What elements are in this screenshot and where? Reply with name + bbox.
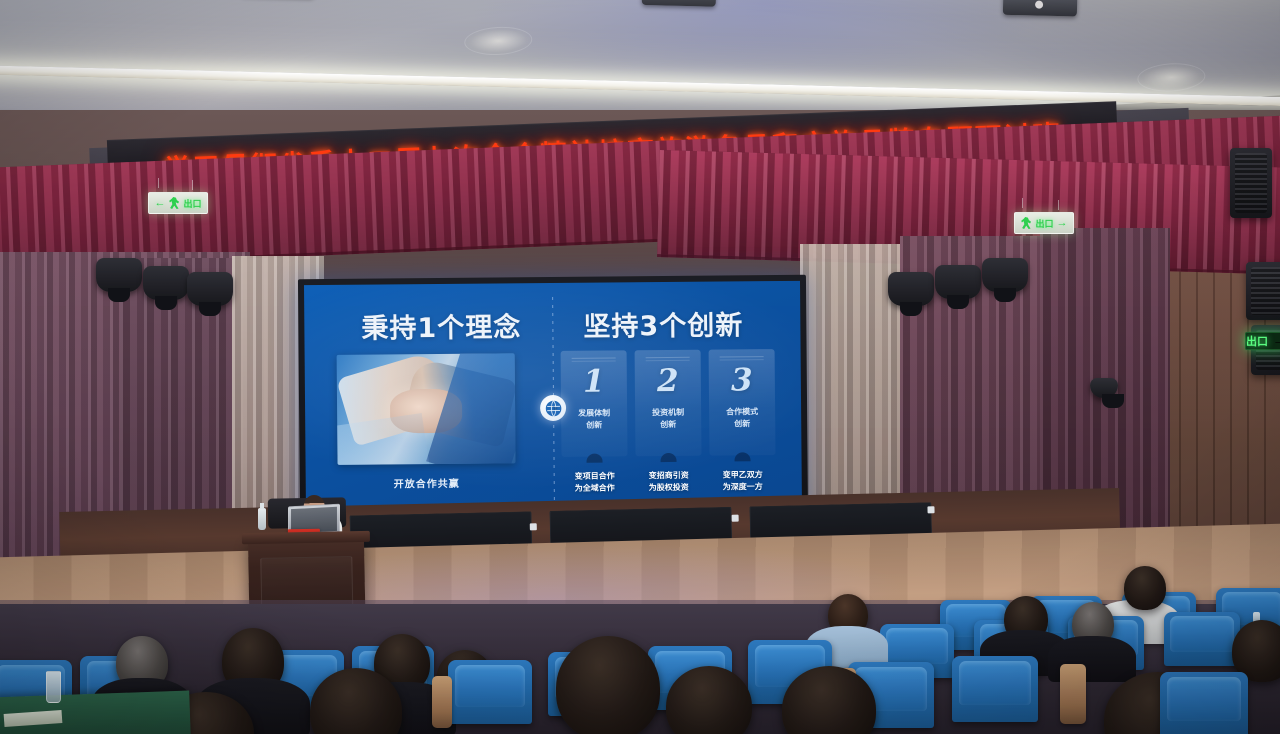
card-caption: 变甲乙双方 为深度一方: [710, 469, 776, 494]
card-caption-line2: 为股权投资: [649, 483, 689, 492]
water-glass: [46, 671, 61, 703]
card-knob: [660, 453, 676, 462]
handshake-photo: [337, 353, 516, 465]
card-label-line2: 创新: [586, 420, 602, 429]
attendee-head-foreground: [556, 636, 660, 734]
card-caption: 变项目合作 为全域合作: [562, 470, 628, 495]
exit-arrow-right-icon: →: [1057, 217, 1068, 229]
slide-card: 3 合作模式 创新: [709, 349, 776, 456]
auditorium-photo: 学习贯彻省委十二届七次全会精神培育旅游名县和文旅品牌专题研讨班 ← 出口 出口 …: [0, 0, 1280, 734]
slide-photo-caption: 开放合作共赢: [338, 474, 516, 491]
exit-sign-wire: [1058, 200, 1059, 210]
pa-speaker: [1230, 148, 1272, 218]
slide-heading-left: 秉持1个理念: [361, 305, 521, 345]
water-bottle: [258, 508, 266, 530]
slide-card: 1 发展体制 创新: [561, 350, 628, 457]
auditorium-seat[interactable]: [448, 660, 532, 724]
slide-card-captions: 变项目合作 为全域合作 变招商引资 为股权投资 变甲乙双方 为深度一方: [562, 469, 776, 495]
running-man-icon: [1020, 217, 1032, 229]
card-knob: [586, 454, 602, 463]
presentation-slide: 秉持1个理念 坚持3个创新 开放合作共赢: [304, 281, 802, 516]
stage-spotlight: [143, 266, 189, 300]
card-caption-line1: 变甲乙双方: [723, 470, 763, 479]
wainscot-fixture: [732, 515, 739, 522]
card-caption: 变招商引资 为股权投资: [636, 470, 702, 495]
running-man-icon: [168, 197, 180, 209]
card-caption-line1: 变招商引资: [649, 471, 689, 480]
stage-spotlight: [935, 265, 981, 299]
slide-left-panel: 开放合作共赢: [337, 353, 516, 491]
light-bracket: [1003, 0, 1078, 17]
lectern-top: [242, 531, 370, 544]
card-label-line1: 合作模式: [726, 407, 758, 416]
pa-speaker: [1246, 262, 1280, 320]
exit-arrow-left-icon: ←: [154, 197, 165, 209]
stage-spotlight: [1090, 378, 1118, 398]
stage-spotlight: [888, 272, 934, 306]
card-number: 1: [583, 367, 605, 398]
stage-spotlight: [187, 272, 233, 306]
exit-sign-wire: [158, 178, 159, 188]
projection-screen: 秉持1个理念 坚持3个创新 开放合作共赢: [298, 275, 808, 522]
wainscot-fixture: [530, 523, 537, 530]
exit-sign-left: ← 出口: [148, 192, 208, 214]
slide-heading-right: 坚持3个创新: [583, 303, 743, 343]
card-label-line2: 创新: [660, 420, 676, 429]
card-label-line2: 创新: [734, 419, 750, 428]
wainscot-fixture: [927, 506, 934, 513]
exit-sign-label: 出口: [1246, 333, 1268, 349]
slide-cards: 1 发展体制 创新 2 投资机制 创新 3: [561, 349, 776, 457]
card-caption-line2: 为深度一方: [723, 482, 763, 491]
attendee-head: [1124, 566, 1166, 610]
slide-headings: 秉持1个理念 坚持3个创新: [304, 303, 800, 346]
exit-sign-wire: [1022, 198, 1023, 208]
exit-sign-label: 出口: [183, 197, 201, 210]
exit-sign-right: 出口 →: [1014, 212, 1074, 234]
exit-sign-house-right: 出口 →: [1245, 332, 1280, 350]
card-label: 合作模式 创新: [726, 406, 758, 429]
seat-armrest: [432, 676, 452, 728]
stage-spotlight: [982, 258, 1028, 292]
card-label: 发展体制 创新: [578, 408, 610, 431]
stage-spotlight: [96, 258, 142, 292]
exit-sign-wire: [192, 180, 193, 190]
auditorium-seat[interactable]: [952, 656, 1038, 722]
card-number: 3: [731, 365, 753, 396]
card-label: 投资机制 创新: [652, 407, 684, 430]
card-label-line1: 投资机制: [652, 408, 684, 417]
seat-armrest: [1060, 664, 1086, 724]
card-knob: [734, 452, 750, 461]
auditorium-seat[interactable]: [1164, 612, 1240, 666]
card-caption-line1: 变项目合作: [575, 471, 615, 480]
card-label-line1: 发展体制: [578, 409, 610, 418]
card-caption-line2: 为全域合作: [575, 483, 615, 492]
exit-sign-label: 出口: [1035, 217, 1053, 230]
card-number: 2: [657, 366, 679, 397]
exit-arrow-right-icon: →: [1272, 332, 1280, 350]
auditorium-seat[interactable]: [1160, 672, 1248, 734]
slide-card: 2 投资机制 创新: [635, 350, 702, 457]
